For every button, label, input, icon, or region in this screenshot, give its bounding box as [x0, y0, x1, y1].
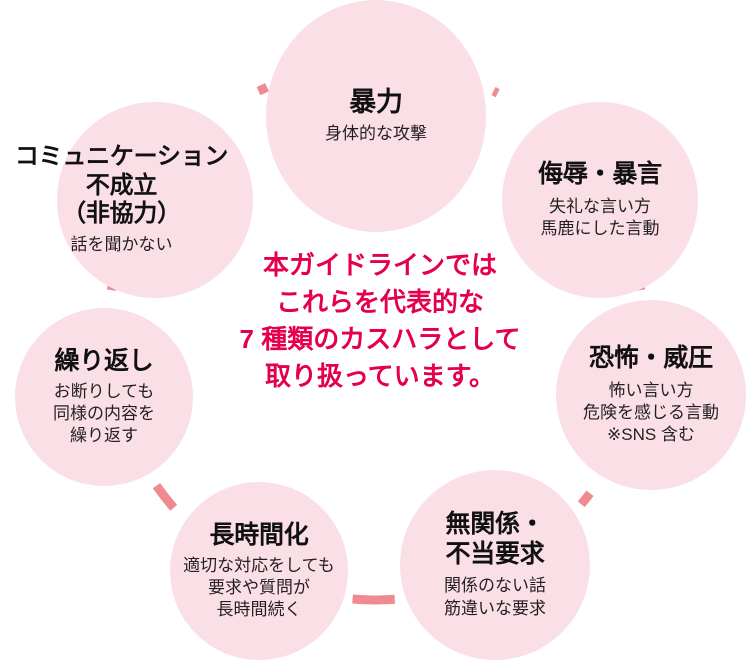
node-irrelevant-demand-title-line-2: 不当要求	[445, 540, 544, 570]
center-callout-line-4: 取り扱っています。	[200, 358, 560, 395]
node-irrelevant-demand-title-line-1: 無関係・	[445, 510, 544, 540]
center-callout-line-1: 本ガイドラインでは	[200, 247, 560, 284]
node-repetition-desc-line-2: 同様の内容を	[53, 403, 155, 425]
node-long-duration-content: 長時間化 適切な対応をしても 要求や質問が 長時間続く	[183, 521, 335, 621]
node-communication-breakdown-title-line-2: 不成立	[86, 172, 157, 200]
node-irrelevant-demand-desc-line-2: 筋違いな要求	[444, 598, 546, 620]
arc-longtime-to-repeat	[157, 486, 174, 508]
node-fear-desc-line-2: 危険を感じる言動	[583, 402, 719, 424]
node-irrelevant-demand-content: 無関係・ 不当要求 関係のない話 筋違いな要求	[444, 510, 546, 619]
node-fear-desc-line-3: ※SNS 含む	[607, 424, 695, 446]
arc-fear-to-irrelevant	[581, 493, 590, 504]
node-repetition[interactable]: 繰り返し お断りしても 同様の内容を 繰り返す	[15, 308, 193, 486]
node-long-duration-title: 長時間化	[209, 521, 308, 551]
node-insult-title: 侮辱・暴言	[538, 160, 662, 190]
node-violence-content: 暴力 身体的な攻撃	[325, 87, 427, 146]
node-insult-content: 侮辱・暴言 失礼な言い方 馬鹿にした言動	[538, 160, 662, 240]
node-fear[interactable]: 恐怖・威圧 怖い言い方 危険を感じる言動 ※SNS 含む	[556, 300, 746, 490]
node-long-duration[interactable]: 長時間化 適切な対応をしても 要求や質問が 長時間続く	[170, 482, 348, 660]
node-repetition-desc-line-3: 繰り返す	[70, 425, 138, 447]
node-irrelevant-demand-desc-line-1: 関係のない話	[444, 575, 546, 597]
center-callout-text: 本ガイドラインでは これらを代表的な 7 種類のカスハラとして 取り扱っています…	[200, 247, 560, 395]
arc-irrelevant-to-longtime	[353, 599, 395, 600]
node-fear-title: 恐怖・威圧	[589, 344, 713, 374]
node-repetition-content: 繰り返し お断りしても 同様の内容を 繰り返す	[53, 347, 155, 447]
node-long-duration-desc-line-1: 適切な対応をしても	[183, 555, 335, 577]
center-callout-line-2: これらを代表的な	[200, 284, 560, 321]
node-fear-content: 恐怖・威圧 怖い言い方 危険を感じる言動 ※SNS 含む	[583, 344, 719, 446]
node-fear-desc-line-1: 怖い言い方	[609, 380, 694, 402]
node-violence-title: 暴力	[349, 87, 402, 119]
node-communication-breakdown-content: コミュニケーション 不成立 （非協力） 話を聞かない	[0, 143, 287, 256]
node-insult-desc-line-2: 馬鹿にした言動	[540, 218, 659, 240]
node-communication-breakdown-title-line-1: コミュニケーション	[15, 143, 228, 171]
node-insult-desc-line-1: 失礼な言い方	[549, 196, 651, 218]
node-long-duration-desc-line-2: 要求や質問が	[208, 577, 310, 599]
node-violence[interactable]: 暴力 身体的な攻撃	[266, 0, 486, 232]
node-repetition-title: 繰り返し	[54, 347, 153, 377]
arc-communication-to-violence	[259, 87, 268, 91]
node-communication-breakdown-title-line-3: （非協力）	[62, 200, 181, 228]
node-long-duration-desc-line-3: 長時間続く	[216, 599, 301, 621]
cycle-diagram: 暴力 身体的な攻撃 侮辱・暴言 失礼な言い方 馬鹿にした言動 恐怖・威圧 怖い言…	[0, 0, 750, 663]
node-repetition-desc-line-1: お断りしても	[54, 381, 155, 403]
node-irrelevant-demand[interactable]: 無関係・ 不当要求 関係のない話 筋違いな要求	[400, 470, 590, 660]
arc-violence-to-insult	[494, 91, 498, 93]
node-violence-desc-line-1: 身体的な攻撃	[325, 123, 427, 145]
center-callout-line-3: 7 種類のカスハラとして	[200, 321, 560, 358]
node-communication-breakdown-desc-line-1: 話を聞かない	[71, 234, 173, 256]
